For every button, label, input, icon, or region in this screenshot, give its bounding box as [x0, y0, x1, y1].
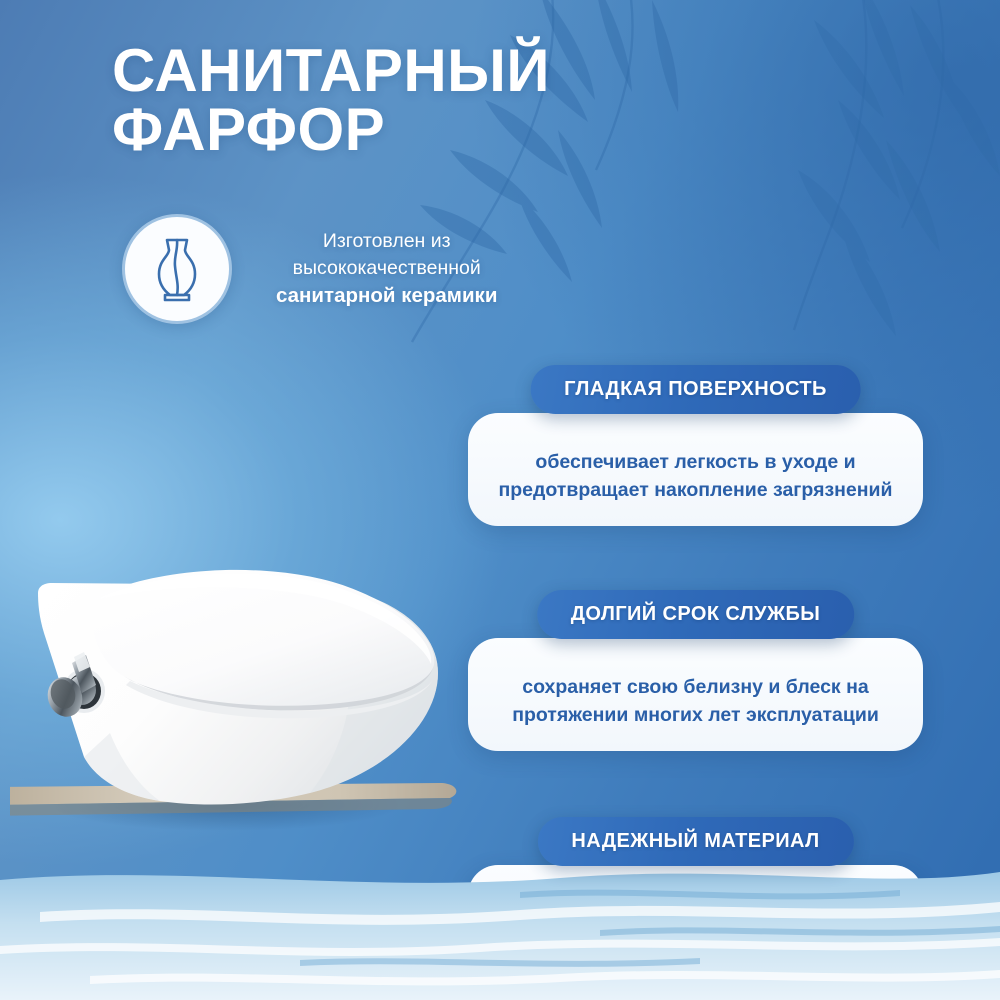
vase-icon — [122, 214, 232, 324]
feature-card-2-body: сохраняет свою белизну и блеск на протяж… — [468, 638, 923, 751]
badge-line-1: Изготовлен из — [276, 228, 497, 255]
feature-card-1-line-2: предотвращает накопление загрязнений — [490, 477, 901, 505]
feature-card-1-heading: ГЛАДКАЯ ПОВЕРХНОСТЬ — [530, 365, 861, 414]
feature-card-3: НАДЕЖНЫЙ МАТЕРИАЛ обладает высокой устой… — [468, 840, 923, 978]
feature-card-3-line-2: царапинам и повреждениям — [490, 929, 901, 957]
title-line-1: САНИТАРНЫЙ — [112, 42, 672, 101]
feature-card-1-line-1: обеспечивает легкость в уходе и — [490, 449, 901, 477]
feature-card-2-heading: ДОЛГИЙ СРОК СЛУЖБЫ — [537, 590, 854, 639]
feature-card-3-heading: НАДЕЖНЫЙ МАТЕРИАЛ — [537, 817, 853, 866]
feature-card-3-line-1: обладает высокой устойчивостью к — [490, 901, 901, 929]
product-infographic-poster: САНИТАРНЫЙ ФАРФОР Изготовлен из высокока… — [0, 0, 1000, 1000]
feature-card-3-body: обладает высокой устойчивостью к царапин… — [468, 865, 923, 978]
badge-text: Изготовлен из высококачественной санитар… — [256, 228, 497, 310]
badge-line-3: санитарной керамики — [276, 282, 497, 310]
feature-card-1-body: обеспечивает легкость в уходе и предотвр… — [468, 413, 923, 526]
title-line-2: ФАРФОР — [112, 101, 672, 160]
feature-card-2: ДОЛГИЙ СРОК СЛУЖБЫ сохраняет свою белизн… — [468, 613, 923, 751]
feature-card-1: ГЛАДКАЯ ПОВЕРХНОСТЬ обеспечивает легкост… — [468, 388, 923, 526]
feature-card-2-line-2: протяжении многих лет эксплуатации — [490, 702, 901, 730]
product-image-wall-hung-toilet — [10, 505, 490, 865]
badge-line-2: высококачественной — [276, 255, 497, 282]
feature-card-2-line-1: сохраняет свою белизну и блеск на — [490, 674, 901, 702]
poster-title: САНИТАРНЫЙ ФАРФОР — [112, 42, 672, 160]
ceramic-material-badge: Изготовлен из высококачественной санитар… — [122, 214, 497, 324]
